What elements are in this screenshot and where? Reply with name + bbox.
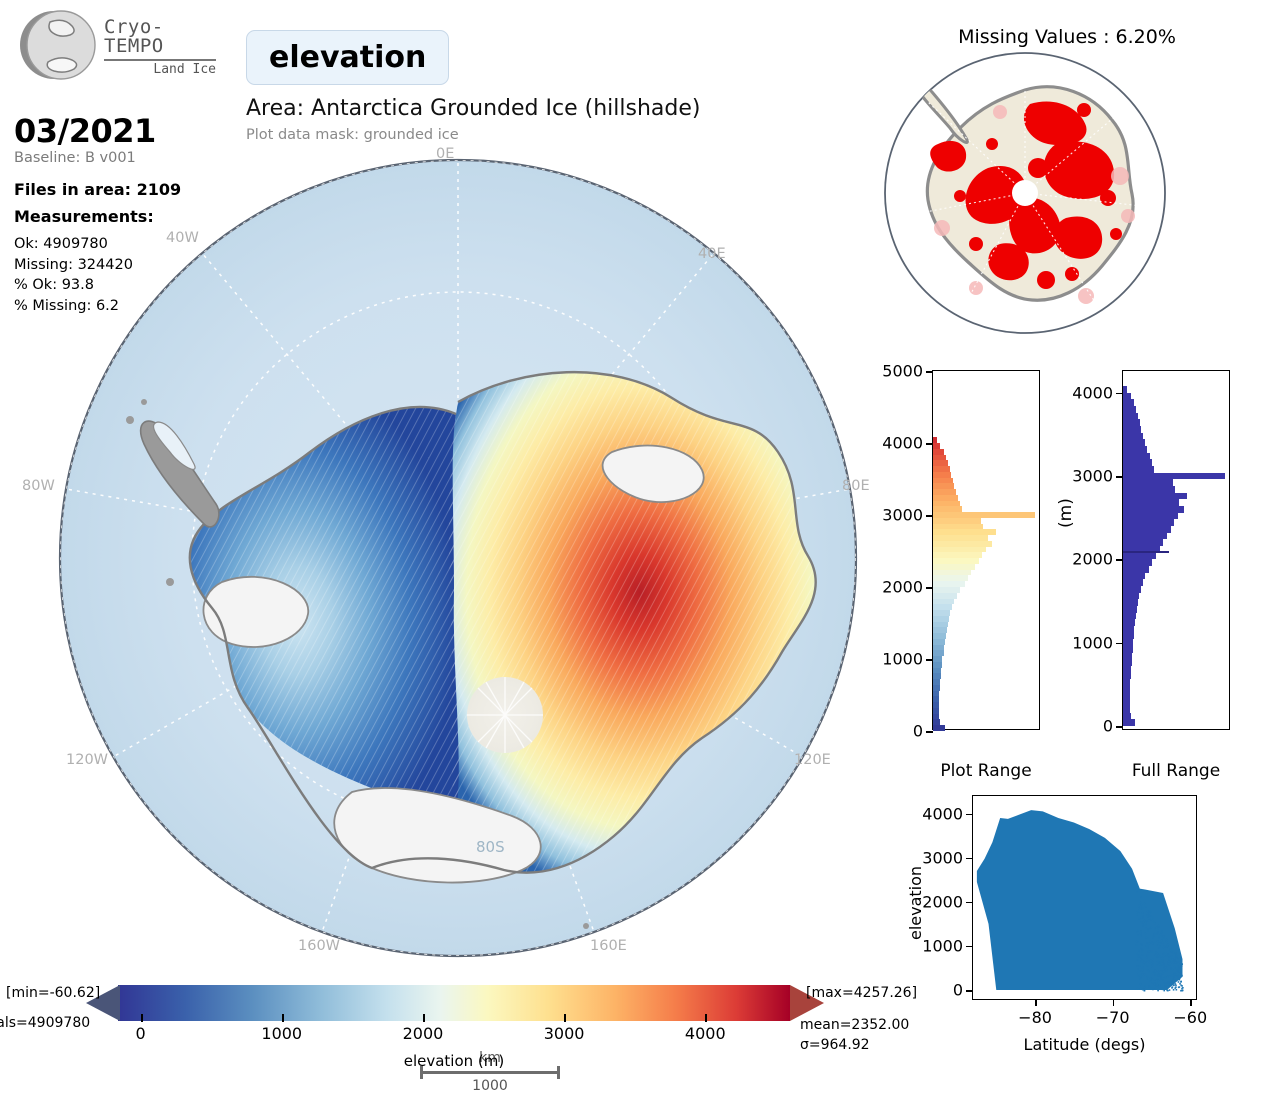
scatter-point bbox=[1175, 983, 1177, 985]
scatter-point bbox=[1150, 918, 1152, 920]
scatter-point bbox=[1147, 916, 1149, 918]
scatter-point bbox=[1167, 963, 1169, 965]
colorbar-max-label: [max=4257.26] bbox=[806, 985, 917, 1001]
colorbar-sigma-label: σ=964.92 bbox=[800, 1037, 870, 1053]
scatter-point bbox=[1142, 989, 1144, 991]
scatter-point bbox=[1147, 969, 1149, 971]
axis-tick-label: 3000 bbox=[922, 848, 963, 867]
histogram-bar bbox=[933, 645, 944, 651]
histogram-bar bbox=[1123, 459, 1152, 466]
axis-tick-label: 3000 bbox=[882, 506, 923, 525]
scatter-point bbox=[1154, 928, 1156, 930]
histogram-bar bbox=[933, 633, 946, 639]
scatter-point bbox=[1175, 962, 1177, 964]
scatter-point bbox=[1180, 968, 1182, 970]
histogram-bar bbox=[933, 714, 939, 720]
histogram-bar bbox=[933, 668, 941, 674]
map-canvas: 80S 70S bbox=[52, 152, 864, 964]
histogram-bar bbox=[1123, 626, 1134, 633]
scatter-point bbox=[1163, 970, 1165, 972]
axis-tick-label: 4000 bbox=[922, 804, 963, 823]
colorbar-tick bbox=[282, 1014, 284, 1022]
antarctica-elevation-map[interactable]: 80S 70S 0E 40E 80E 120E 160E 160W 120W 8… bbox=[52, 152, 864, 964]
scatter-point bbox=[1139, 974, 1141, 976]
axis-tick bbox=[966, 858, 973, 860]
scatter-point bbox=[1141, 904, 1143, 906]
scatter-point bbox=[1136, 954, 1138, 956]
scatter-point bbox=[1142, 966, 1144, 968]
scatter-point bbox=[1166, 953, 1168, 955]
scatter-point bbox=[1136, 914, 1138, 916]
scatter-point bbox=[1176, 975, 1178, 977]
scatter-point bbox=[1172, 986, 1174, 988]
histogram-bar bbox=[1123, 433, 1143, 440]
histogram-bar bbox=[1123, 586, 1141, 593]
scatter-canvas bbox=[973, 796, 1198, 1001]
scatter-point bbox=[1157, 928, 1159, 930]
scatter-point bbox=[1156, 942, 1158, 944]
histogram-bar bbox=[933, 650, 944, 656]
full-range-histogram[interactable]: 01000200030004000 Full Range bbox=[1122, 370, 1230, 730]
histogram-bar bbox=[1123, 686, 1130, 693]
histogram-bar bbox=[1123, 646, 1133, 653]
scatter-point bbox=[1161, 935, 1163, 937]
axis-tick-label: −80 bbox=[1018, 1008, 1052, 1027]
histogram-bar bbox=[1123, 559, 1152, 566]
scatter-point bbox=[1142, 970, 1144, 972]
elevation-vs-latitude-scatter[interactable]: 01000200030004000−80−70−60 bbox=[972, 795, 1197, 1000]
missing-values-canvas bbox=[880, 48, 1170, 338]
scatter-point bbox=[1182, 990, 1184, 992]
scatter-point bbox=[1140, 896, 1142, 898]
axis-tick-label: 5000 bbox=[882, 362, 923, 381]
scatter-point bbox=[1159, 962, 1161, 964]
scatter-point bbox=[1168, 981, 1170, 983]
scatter-point bbox=[1145, 961, 1147, 963]
scatter-point bbox=[1165, 982, 1167, 984]
scatter-point bbox=[1140, 988, 1142, 990]
scatter-point bbox=[1176, 989, 1178, 991]
scatter-point bbox=[1147, 920, 1149, 922]
scatter-point bbox=[1149, 928, 1151, 930]
scatter-point bbox=[1145, 922, 1147, 924]
scatter-point bbox=[1156, 927, 1158, 929]
histogram-bar bbox=[1123, 713, 1131, 720]
scatter-point bbox=[1162, 989, 1164, 991]
histogram-bar bbox=[1123, 479, 1173, 486]
histogram-bar bbox=[933, 483, 954, 489]
histogram-bar bbox=[933, 622, 948, 628]
histogram-bar bbox=[933, 662, 942, 668]
scatter-point bbox=[1147, 914, 1149, 916]
scatter-point bbox=[1170, 947, 1172, 949]
axis-tick bbox=[966, 902, 973, 904]
colorbar-nvals-label: vals=4909780 bbox=[0, 1015, 90, 1031]
histogram-bar bbox=[1123, 513, 1178, 520]
scalebar-value: 1000 bbox=[420, 1078, 560, 1094]
scatter-point bbox=[1175, 952, 1177, 954]
axis-tick bbox=[1116, 476, 1123, 478]
histogram-bar bbox=[1123, 706, 1130, 713]
scatter-point bbox=[1153, 935, 1155, 937]
histogram-bar bbox=[933, 593, 957, 599]
scatter-point bbox=[1168, 961, 1170, 963]
globe-icon bbox=[14, 6, 100, 84]
scatter-point bbox=[1158, 961, 1160, 963]
scatter-point bbox=[1145, 963, 1147, 965]
scatter-point bbox=[1139, 978, 1141, 980]
scatter-point bbox=[1180, 961, 1182, 963]
histogram-bar bbox=[933, 570, 971, 576]
histogram-bar bbox=[1123, 446, 1147, 453]
axis-tick-label: 4000 bbox=[1072, 383, 1113, 402]
scatter-point bbox=[1177, 969, 1179, 971]
scatter-point bbox=[1165, 976, 1167, 978]
scatter-point bbox=[1162, 979, 1164, 981]
histogram-bar bbox=[933, 547, 986, 553]
scatter-point bbox=[1181, 973, 1183, 975]
scatter-point bbox=[1173, 989, 1175, 991]
scatter-point bbox=[1165, 969, 1167, 971]
scatter-point bbox=[1177, 958, 1179, 960]
scatter-point bbox=[1172, 963, 1174, 965]
scatter-point bbox=[1155, 974, 1157, 976]
scatter-point bbox=[1174, 974, 1176, 976]
scatter-point bbox=[1181, 985, 1183, 987]
axis-tick bbox=[1116, 643, 1123, 645]
scatter-point bbox=[1140, 906, 1142, 908]
histogram-bar bbox=[1123, 539, 1163, 546]
scatter-point bbox=[1141, 917, 1143, 919]
colorbar-tick-label: 4000 bbox=[685, 1024, 726, 1043]
scatter-point bbox=[1166, 955, 1168, 957]
scatter-point bbox=[1170, 968, 1172, 970]
histogram-bar bbox=[933, 558, 979, 564]
scatter-point bbox=[1178, 981, 1180, 983]
scatter-point bbox=[1168, 954, 1170, 956]
scatter-point bbox=[1165, 987, 1167, 989]
histogram-bar bbox=[933, 449, 944, 455]
scatter-point bbox=[1149, 986, 1151, 988]
scatter-point bbox=[1179, 971, 1181, 973]
scatter-point bbox=[1160, 976, 1162, 978]
histogram-bar bbox=[933, 656, 942, 662]
scatter-point bbox=[1144, 932, 1146, 934]
scatter-point bbox=[1146, 942, 1148, 944]
scatter-point bbox=[1137, 975, 1139, 977]
histogram-bar bbox=[933, 564, 975, 570]
scatter-point bbox=[1149, 910, 1151, 912]
axis-tick bbox=[926, 371, 933, 373]
histogram-bar bbox=[1123, 493, 1187, 500]
colorbar-tick-label: 1000 bbox=[261, 1024, 302, 1043]
axis-tick bbox=[926, 731, 933, 733]
scatter-point bbox=[1152, 917, 1154, 919]
histogram-bar bbox=[933, 535, 988, 541]
scatter-point bbox=[1137, 969, 1139, 971]
scatter-point bbox=[1144, 973, 1146, 975]
scatter-point bbox=[1140, 948, 1142, 950]
histogram-bar bbox=[1123, 466, 1154, 473]
histogram-bar bbox=[933, 627, 947, 633]
scatter-point bbox=[1145, 937, 1147, 939]
scatter-point bbox=[1179, 983, 1181, 985]
mask-subtitle: Plot data mask: grounded ice bbox=[246, 127, 459, 143]
scatter-point bbox=[1139, 965, 1141, 967]
colorbar-tick bbox=[564, 1014, 566, 1022]
logo-wordmark: Cryo-TEMPO bbox=[104, 18, 216, 56]
histogram-bar bbox=[933, 725, 945, 731]
histogram-bar bbox=[1123, 673, 1131, 680]
scatter-point bbox=[1140, 983, 1142, 985]
scatter-point bbox=[1163, 990, 1165, 992]
scatter-point bbox=[1147, 911, 1149, 913]
histogram-bar bbox=[1123, 699, 1130, 706]
histogram-bar bbox=[1123, 639, 1133, 646]
histogram-bar bbox=[933, 696, 939, 702]
scatter-point bbox=[1173, 976, 1175, 978]
scatter-point bbox=[1167, 965, 1169, 967]
colorbar-tick-label: 3000 bbox=[544, 1024, 585, 1043]
scatter-point bbox=[1169, 958, 1171, 960]
histogram-bar bbox=[933, 472, 951, 478]
scatter-point bbox=[1156, 928, 1158, 930]
scatter-point bbox=[1166, 939, 1168, 941]
scatter-point bbox=[1148, 919, 1150, 921]
scatter-point bbox=[1163, 953, 1165, 955]
histogram-bar bbox=[933, 639, 945, 645]
scatter-point bbox=[1141, 973, 1143, 975]
missing-values-title: Missing Values : 6.20% bbox=[862, 26, 1272, 48]
histogram-bar bbox=[933, 685, 940, 691]
scatter-point bbox=[1169, 960, 1171, 962]
scatter-point bbox=[1157, 933, 1159, 935]
scatter-point bbox=[1163, 936, 1165, 938]
histogram-bar bbox=[1123, 659, 1132, 666]
scatter-point bbox=[1145, 924, 1147, 926]
axis-tick-label: 1000 bbox=[1072, 633, 1113, 652]
axis-tick bbox=[1116, 726, 1123, 728]
histogram-bar bbox=[933, 719, 940, 725]
scatter-point bbox=[1141, 908, 1143, 910]
scatter-point bbox=[1147, 930, 1149, 932]
scatter-point bbox=[1137, 972, 1139, 974]
scatter-point bbox=[1176, 957, 1178, 959]
colorbar-min-label: [min=-60.62] bbox=[6, 985, 100, 1001]
histogram-bar bbox=[1123, 506, 1184, 513]
scatter-point bbox=[1159, 945, 1161, 947]
histogram-bar bbox=[1123, 599, 1138, 606]
scatter-point bbox=[1173, 959, 1175, 961]
histogram-bar bbox=[933, 673, 941, 679]
scatter-point bbox=[1152, 989, 1154, 991]
logo-wordmark-sub: Land Ice bbox=[104, 63, 216, 76]
scatter-point bbox=[1136, 944, 1138, 946]
scatter-point bbox=[1150, 927, 1152, 929]
scatter-point bbox=[1156, 985, 1158, 987]
scatter-point bbox=[1155, 955, 1157, 957]
lat-label-80s: 80S bbox=[476, 838, 505, 856]
scatter-point bbox=[1174, 987, 1176, 989]
axis-tick bbox=[926, 587, 933, 589]
histogram-bar bbox=[1123, 519, 1174, 526]
scatter-point bbox=[1147, 947, 1149, 949]
scatter-point bbox=[1136, 932, 1138, 934]
histogram-bar bbox=[933, 529, 996, 535]
scatter-point bbox=[1144, 920, 1146, 922]
scatter-point bbox=[1140, 902, 1142, 904]
colorbar-mean-label: mean=2352.00 bbox=[800, 1017, 909, 1033]
scatter-point bbox=[1179, 977, 1181, 979]
scatter-point bbox=[1173, 978, 1175, 980]
scatter-point bbox=[1172, 959, 1174, 961]
histogram-bar bbox=[933, 460, 948, 466]
scatter-point bbox=[1152, 937, 1154, 939]
axis-tick bbox=[1113, 999, 1115, 1006]
histogram-bar bbox=[1123, 553, 1156, 560]
scatter-point bbox=[1140, 960, 1142, 962]
histogram-bar bbox=[1123, 666, 1131, 673]
scatter-point bbox=[1158, 937, 1160, 939]
scatter-point bbox=[1160, 958, 1162, 960]
scatter-point bbox=[1144, 990, 1146, 992]
histogram-bar bbox=[1123, 606, 1137, 613]
scatter-point bbox=[1149, 943, 1151, 945]
axis-tick-label: 1000 bbox=[922, 936, 963, 955]
histogram-bar bbox=[1123, 613, 1136, 620]
scatter-point bbox=[1167, 975, 1169, 977]
histogram-bar bbox=[933, 702, 939, 708]
scatter-point bbox=[1137, 959, 1139, 961]
lon-label-40e: 40E bbox=[698, 246, 726, 262]
histogram-bar bbox=[1123, 426, 1141, 433]
histogram-bar bbox=[1123, 406, 1136, 413]
lon-label-120e: 120E bbox=[794, 752, 831, 768]
histogram-bar bbox=[1123, 566, 1149, 573]
histogram-bar bbox=[933, 443, 940, 449]
cryo-tempo-logo: Cryo-TEMPO Land Ice bbox=[14, 6, 214, 84]
histogram-bar bbox=[933, 552, 982, 558]
scatter-point bbox=[1145, 927, 1147, 929]
scatter-point bbox=[1138, 954, 1140, 956]
scatter-point bbox=[1155, 982, 1157, 984]
scatter-point bbox=[1163, 965, 1165, 967]
histogram-bar bbox=[1123, 693, 1130, 700]
axis-tick-label: 2000 bbox=[882, 578, 923, 597]
scatter-point bbox=[1168, 984, 1170, 986]
histogram-bar bbox=[1123, 419, 1140, 426]
lon-label-160e: 160E bbox=[590, 938, 627, 954]
scatter-point bbox=[1140, 932, 1142, 934]
elevation-colorbar[interactable] bbox=[118, 985, 790, 1021]
scatter-point bbox=[1167, 986, 1169, 988]
scatter-point bbox=[1180, 965, 1182, 967]
scatter-point bbox=[1142, 949, 1144, 951]
scatter-point bbox=[1146, 957, 1148, 959]
scatter-point bbox=[1171, 951, 1173, 953]
scatter-point bbox=[1145, 945, 1147, 947]
axis-tick bbox=[1116, 393, 1123, 395]
scatter-point bbox=[1154, 922, 1156, 924]
axis-tick-label: 1000 bbox=[882, 650, 923, 669]
scatter-point bbox=[1169, 964, 1171, 966]
scatter-point bbox=[1147, 976, 1149, 978]
scatter-point bbox=[1161, 931, 1163, 933]
scatter-point bbox=[1143, 975, 1145, 977]
histogram-bar bbox=[933, 604, 952, 610]
scatter-point bbox=[1178, 967, 1180, 969]
scatter-point bbox=[1155, 952, 1157, 954]
lon-label-80e: 80E bbox=[842, 478, 870, 494]
plot-range-histogram[interactable]: 010002000300040005000 Plot Range bbox=[932, 370, 1040, 730]
scatter-point bbox=[1137, 956, 1139, 958]
scatter-point bbox=[1152, 941, 1154, 943]
histogram-bar bbox=[1123, 633, 1134, 640]
scatter-point bbox=[1162, 942, 1164, 944]
axis-tick bbox=[926, 443, 933, 445]
scatter-point bbox=[1137, 930, 1139, 932]
histogram-bar bbox=[933, 437, 937, 443]
scatter-point bbox=[1149, 912, 1151, 914]
scatter-point bbox=[1151, 951, 1153, 953]
histogram-bar bbox=[1123, 499, 1179, 506]
scatter-point bbox=[1163, 947, 1165, 949]
scatter-point bbox=[1161, 940, 1163, 942]
histogram-bar bbox=[1123, 413, 1138, 420]
histogram-bar bbox=[1123, 579, 1143, 586]
scatter-point bbox=[1140, 957, 1142, 959]
scatter-point bbox=[1159, 964, 1161, 966]
scatter-point bbox=[1175, 985, 1177, 987]
scatter-point bbox=[1158, 971, 1160, 973]
axis-tick-label: −70 bbox=[1096, 1008, 1130, 1027]
scatter-point bbox=[1171, 949, 1173, 951]
histogram-bar bbox=[1123, 533, 1167, 540]
scatter-point bbox=[1163, 963, 1165, 965]
colorbar-tick-label: 0 bbox=[135, 1024, 145, 1043]
scatter-point bbox=[1173, 952, 1175, 954]
scatter-point bbox=[1159, 987, 1161, 989]
scatter-point bbox=[1137, 965, 1139, 967]
scatter-point bbox=[1140, 921, 1142, 923]
area-title: Area: Antarctica Grounded Ice (hillshade… bbox=[246, 96, 700, 121]
colorbar-tick bbox=[423, 1014, 425, 1022]
scatter-point bbox=[1142, 915, 1144, 917]
scatter-point bbox=[1173, 985, 1175, 987]
scatter-point bbox=[1150, 980, 1152, 982]
scatter-point bbox=[1148, 978, 1150, 980]
histogram-bar bbox=[933, 512, 1035, 518]
scatter-point bbox=[1167, 944, 1169, 946]
axis-tick-label: 2000 bbox=[1072, 550, 1113, 569]
scatter-point bbox=[1138, 908, 1140, 910]
scatter-point bbox=[1157, 975, 1159, 977]
histogram-bar bbox=[933, 524, 983, 530]
scatter-ylabel: elevation bbox=[906, 866, 925, 940]
histogram-bar bbox=[1123, 526, 1171, 533]
scatter-point bbox=[1163, 956, 1165, 958]
scatter-point bbox=[1154, 923, 1156, 925]
missing-values-map[interactable] bbox=[880, 48, 1170, 338]
scatter-point bbox=[1142, 954, 1144, 956]
scatter-point bbox=[1172, 969, 1174, 971]
axis-tick-label: 2000 bbox=[922, 892, 963, 911]
scatter-point bbox=[1140, 943, 1142, 945]
scatter-point bbox=[1142, 922, 1144, 924]
axis-tick bbox=[966, 946, 973, 948]
scatter-point bbox=[1149, 941, 1151, 943]
scatter-point bbox=[1150, 960, 1152, 962]
